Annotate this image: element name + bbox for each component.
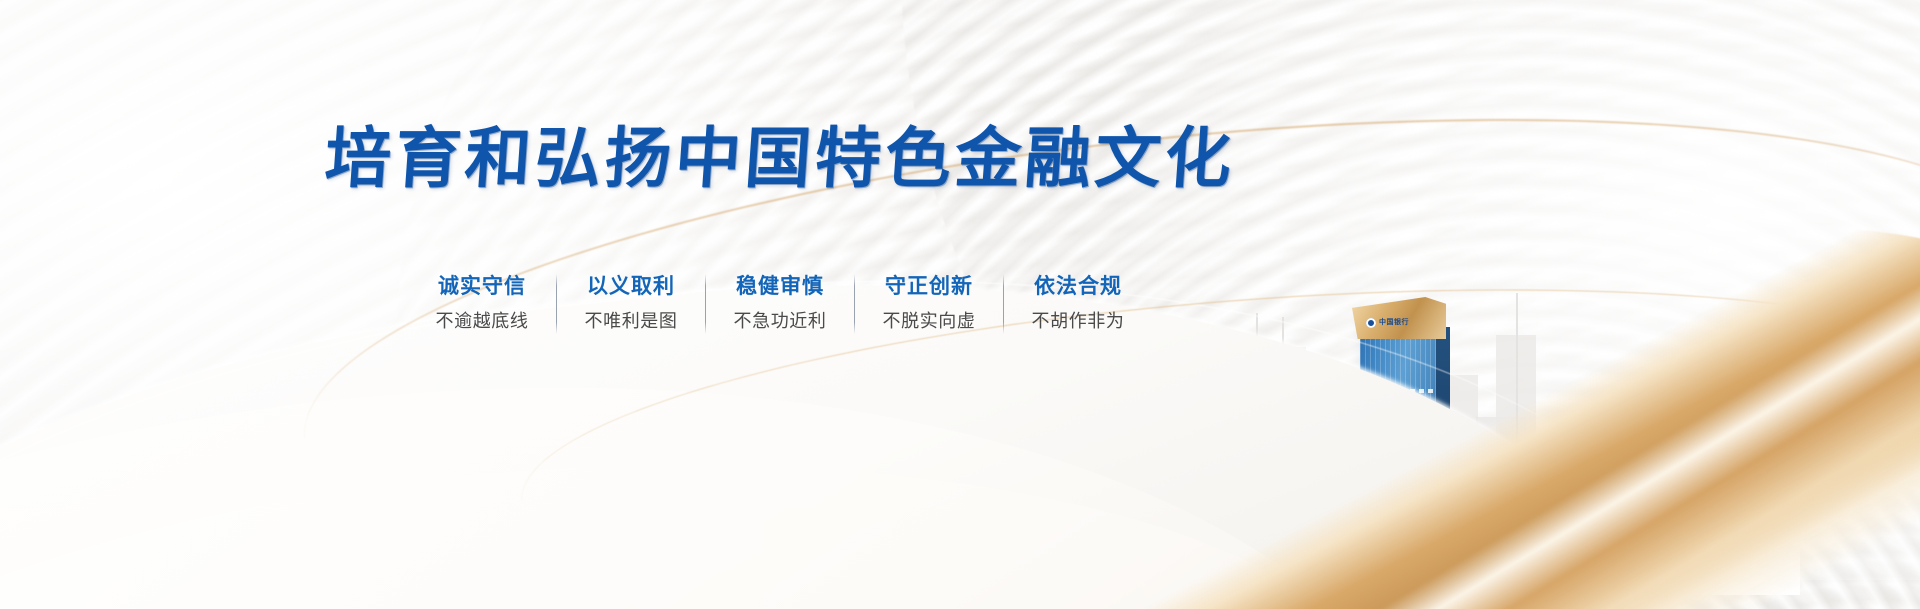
main-title: 培育和弘扬中国特色金融文化 (0, 122, 1563, 196)
pillar-heading: 以义取利 (587, 272, 675, 300)
pillar-item-3: 稳健审慎 不急功近利 (706, 272, 854, 334)
pillar-item-4: 守正创新 不脱实向虚 (855, 272, 1003, 334)
pillar-heading: 稳健审慎 (736, 272, 824, 300)
pillar-heading: 依法合规 (1034, 272, 1122, 300)
pillar-heading: 守正创新 (885, 272, 973, 300)
pillar-subtext: 不胡作非为 (1032, 309, 1125, 334)
pillar-subtext: 不脱实向虚 (883, 309, 976, 334)
pillar-item-5: 依法合规 不胡作非为 (1004, 272, 1152, 334)
pillar-list: 诚实守信 不逾越底线 以义取利 不唯利是图 稳健审慎 不急功近利 守正创新 不脱… (0, 272, 1560, 334)
pillar-item-1: 诚实守信 不逾越底线 (408, 272, 556, 334)
pillar-heading: 诚实守信 (438, 272, 526, 300)
pillar-subtext: 不逾越底线 (436, 309, 529, 334)
banner-root: 中国银行 培育和弘扬中国特色金融文化 诚实守信 不逾越底线 以义取利 (0, 0, 1920, 609)
banner-content: 培育和弘扬中国特色金融文化 诚实守信 不逾越底线 以义取利 不唯利是图 稳健审慎… (0, 0, 1920, 609)
pillar-item-2: 以义取利 不唯利是图 (557, 272, 705, 334)
pillar-subtext: 不唯利是图 (585, 309, 678, 334)
pillar-subtext: 不急功近利 (734, 309, 827, 334)
